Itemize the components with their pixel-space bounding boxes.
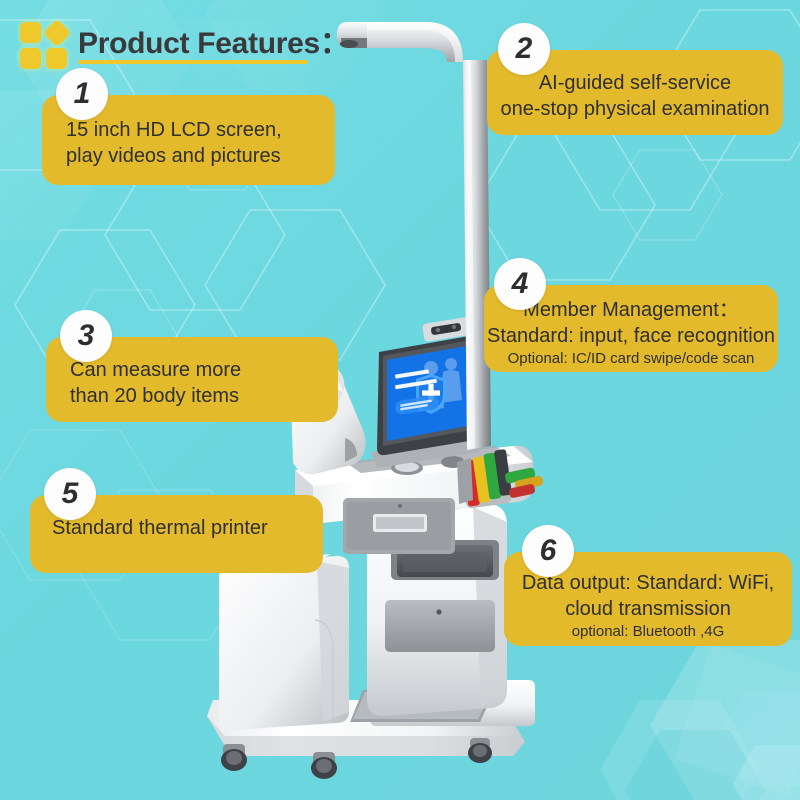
page-title: Product Features： (78, 18, 350, 62)
callout-5-number: 5 (44, 468, 96, 520)
printer-cabinet (219, 554, 349, 730)
lcd-display (371, 316, 479, 468)
callout-6-text: Data output: Standard: WiFi, cloud trans… (498, 570, 798, 642)
callout-1-text: 15 inch HD LCD screen, play videos and p… (42, 117, 335, 169)
callout-3-number: 3 (60, 310, 112, 362)
title-underline (78, 60, 308, 64)
callout-3-line-1: Can measure more (70, 357, 314, 383)
callout-5-line-1: Standard thermal printer (52, 515, 301, 541)
callout-2-line-2: one-stop physical examination (482, 96, 788, 122)
callout-4-line-3: Optional: IC/ID card swipe/code scan (474, 349, 788, 369)
callout-2[interactable]: 2 AI-guided self-service one-stop physic… (487, 50, 783, 135)
callout-4-number: 4 (494, 258, 546, 310)
callout-5[interactable]: 5 Standard thermal printer (30, 495, 323, 573)
callout-4-line-2: Standard: input, face recognition (474, 323, 788, 349)
callout-3-line-2: than 20 body items (70, 383, 314, 409)
callout-1[interactable]: 1 15 inch HD LCD screen, play videos and… (42, 95, 335, 185)
callout-2-number: 2 (498, 23, 550, 75)
callout-1-line-1: 15 inch HD LCD screen, (66, 117, 311, 143)
callout-6-line-3: optional: Bluetooth ,4G (498, 622, 798, 642)
thermal-printer-slot (343, 498, 455, 554)
callout-3[interactable]: 3 Can measure more than 20 body items (46, 337, 338, 422)
callout-1-line-2: play videos and pictures (66, 143, 311, 169)
callout-4[interactable]: 4 Member Management： Standard: input, fa… (484, 285, 778, 372)
callout-6-number: 6 (522, 525, 574, 577)
callout-3-text: Can measure more than 20 body items (46, 357, 338, 409)
callout-6[interactable]: 6 Data output: Standard: WiFi, cloud tra… (504, 552, 792, 646)
callout-2-text: AI-guided self-service one-stop physical… (482, 70, 788, 122)
callout-1-number: 1 (56, 68, 108, 120)
screen-content (387, 346, 467, 441)
callout-6-line-2: cloud transmission (498, 596, 798, 622)
four-square-logo-icon (20, 22, 72, 72)
